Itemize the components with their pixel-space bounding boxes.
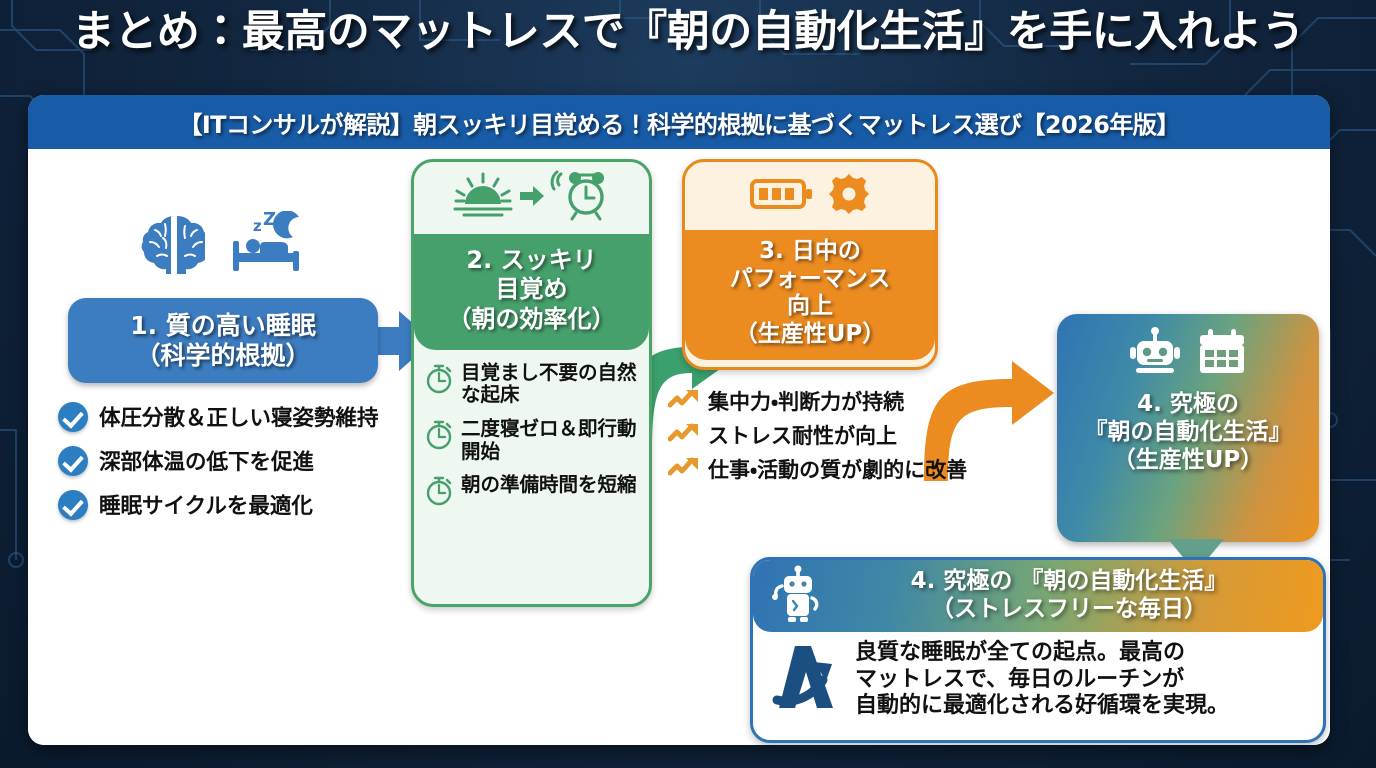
list-item-label: ストレス耐性が向上 xyxy=(708,420,897,450)
stopwatch-icon xyxy=(424,474,454,510)
step1-bullet-list: 体圧分散＆正しい寝姿勢維持 深部体温の低下を促進 睡眠サイクルを最適化 xyxy=(58,401,448,533)
list-item-label: 仕事・活動の質が劇的に改善 xyxy=(708,454,967,484)
robot-icon xyxy=(771,565,825,627)
list-item-label: 目覚まし不要の自然な起床 xyxy=(461,362,641,407)
calendar-icon xyxy=(1197,327,1247,381)
step3-title: 3. 日中の パフォーマンス 向上 （生産性UP） xyxy=(689,238,931,348)
summary-heading: 4. 究極の 『朝の自動化生活』 （ストレスフリーな毎日） xyxy=(825,568,1313,623)
step2-title-box: 2. スッキリ 目覚め （朝の効率化） xyxy=(414,234,649,350)
robot-icon xyxy=(1129,326,1181,382)
sunrise-icon xyxy=(452,170,514,226)
svg-text:z: z xyxy=(253,217,262,235)
check-circle-icon xyxy=(58,402,88,432)
step4-icons xyxy=(1129,318,1247,390)
stopwatch-icon xyxy=(424,418,454,454)
trend-up-icon xyxy=(668,421,702,449)
list-item: 目覚まし不要の自然な起床 xyxy=(424,362,641,407)
step3-bullet-list: 集中力・判断力が持続 ストレス耐性が向上 仕事・ xyxy=(668,386,1088,488)
check-circle-icon xyxy=(58,490,88,520)
list-item: 睡眠サイクルを最適化 xyxy=(58,489,448,520)
step2-bullet-list: 目覚まし不要の自然な起床 二度寝ゼロ＆即行動開始 xyxy=(414,350,649,510)
gear-icon xyxy=(828,173,870,219)
list-item: 朝の準備時間を短縮 xyxy=(424,474,641,510)
list-item-label: 二度寝ゼロ＆即行動開始 xyxy=(461,418,641,463)
trend-up-icon xyxy=(668,455,702,483)
step1-title-box[interactable]: 1. 質の高い睡眠 （科学的根拠） xyxy=(68,298,378,383)
arrow-right-icon xyxy=(518,183,546,213)
step2-card[interactable]: 2. スッキリ 目覚め （朝の効率化） 目覚まし不要の自然な起床 xyxy=(411,159,652,607)
alarm-clock-icon xyxy=(550,169,612,227)
list-item: ストレス耐性が向上 xyxy=(668,420,1088,450)
step3-title-box: 3. 日中の パフォーマンス 向上 （生産性UP） xyxy=(685,230,935,360)
step3-card[interactable]: 3. 日中の パフォーマンス 向上 （生産性UP） xyxy=(682,159,938,370)
card-subtitle: 【ITコンサルが解説】朝スッキリ目覚める！科学的根拠に基づくマットレス選び【20… xyxy=(178,105,1179,140)
list-item: 仕事・活動の質が劇的に改善 xyxy=(668,454,1088,484)
summary-body: 良質な睡眠が全ての起点。最高の マットレスで、毎日のルーチンが 自動的に最適化さ… xyxy=(753,632,1323,722)
battery-icon xyxy=(750,175,814,217)
list-item: 体圧分散＆正しい寝姿勢維持 xyxy=(58,401,448,432)
a-arrow-logo-icon xyxy=(767,638,845,722)
list-item-label: 集中力・判断力が持続 xyxy=(708,386,904,416)
content-card: 【ITコンサルが解説】朝スッキリ目覚める！科学的根拠に基づくマットレス選び【20… xyxy=(28,95,1330,745)
summary-card[interactable]: 4. 究極の 『朝の自動化生活』 （ストレスフリーな毎日） 良質な睡眠が全ての起… xyxy=(750,557,1326,743)
brain-icon xyxy=(141,212,205,278)
sleeping-person-icon: z Z z xyxy=(227,211,305,279)
summary-header: 4. 究極の 『朝の自動化生活』 （ストレスフリーな毎日） xyxy=(753,560,1323,632)
step1-icons: z Z z xyxy=(123,211,323,291)
step1-title: 1. 質の高い睡眠 （科学的根拠） xyxy=(130,311,316,370)
step2-icons xyxy=(414,162,649,234)
list-item: 二度寝ゼロ＆即行動開始 xyxy=(424,418,641,463)
step4-title: 4. 究極の 『朝の自動化生活』 （生産性UP） xyxy=(1085,390,1292,474)
list-item-label: 朝の準備時間を短縮 xyxy=(461,474,637,497)
card-header: 【ITコンサルが解説】朝スッキリ目覚める！科学的根拠に基づくマットレス選び【20… xyxy=(28,95,1330,151)
list-item: 深部体温の低下を促進 xyxy=(58,445,448,476)
stopwatch-icon xyxy=(424,362,454,398)
step2-title: 2. スッキリ 目覚め （朝の効率化） xyxy=(420,246,643,334)
check-circle-icon xyxy=(58,446,88,476)
trend-up-icon xyxy=(668,387,702,415)
step4-card[interactable]: 4. 究極の 『朝の自動化生活』 （生産性UP） xyxy=(1057,314,1319,542)
summary-text: 良質な睡眠が全ての起点。最高の マットレスで、毎日のルーチンが 自動的に最適化さ… xyxy=(855,640,1229,720)
page-title: まとめ：最高のマットレスで『朝の自動化生活』を手に入れよう xyxy=(0,6,1376,60)
list-item: 集中力・判断力が持続 xyxy=(668,386,1088,416)
flow-canvas: z Z z 1. 質の高い睡眠 （科学的根拠） xyxy=(28,151,1330,745)
step3-icons xyxy=(685,162,935,230)
